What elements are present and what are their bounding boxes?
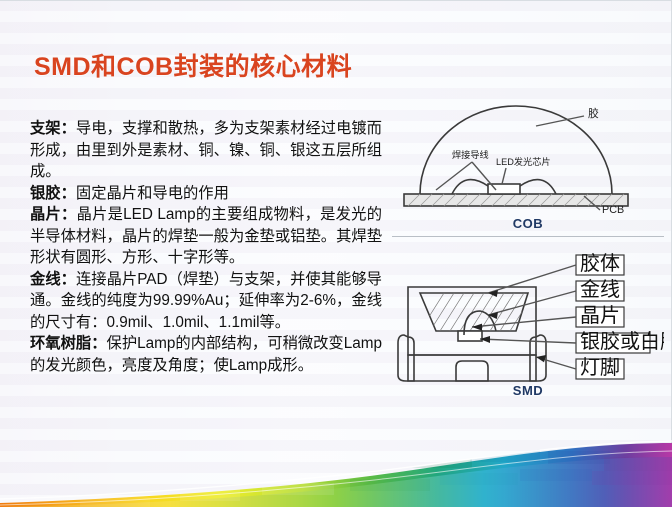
smd-label-die: 晶片 xyxy=(580,304,620,327)
paragraph-epoxy: 环氧树脂：保护Lamp的内部结构，可稍微改变Lamp的发光颜色，亮度及角度；使L… xyxy=(30,333,382,376)
smd-caption: SMD xyxy=(392,383,664,398)
cob-bond-wire-left xyxy=(452,180,488,194)
slide-canvas: SMD和COB封装的核心材料 支架：导电，支撑和散热，多为支架素材经过电镀而形成… xyxy=(0,0,672,507)
smd-label-silverglue: 银胶或白胶 xyxy=(580,330,664,353)
term-epoxy: 环氧树脂： xyxy=(30,335,107,352)
cob-diagram: 胶 焊接导线 LED发光芯片 PCB xyxy=(392,104,664,216)
cob-label-chip: LED发光芯片 xyxy=(496,156,551,167)
smd-diagram: 胶体 金线 晶片 银胶或白胶 灯脚 xyxy=(392,251,664,391)
paragraph-bracket: 支架：导电，支撑和散热，多为支架素材经过电镀而形成，由里到外是素材、铜、镍、铜、… xyxy=(30,118,382,183)
term-die: 晶片： xyxy=(30,206,77,223)
figures-divider xyxy=(392,236,664,237)
smd-package-body xyxy=(408,287,536,355)
figures-column: 胶 焊接导线 LED发光芯片 PCB COB xyxy=(392,104,664,426)
cob-leader-bondwire-b xyxy=(472,162,496,190)
smd-label-goldwire: 金线 xyxy=(580,278,620,301)
smd-lead-left xyxy=(398,335,414,381)
smd-label-encapsulant: 胶体 xyxy=(580,252,620,275)
smd-leader-lines xyxy=(472,265,576,369)
smd-figure: 胶体 金线 晶片 银胶或白胶 灯脚 xyxy=(392,251,664,398)
paragraph-die: 晶片：晶片是LED Lamp的主要组成物料，是发光的半导体材料，晶片的焊垫一般为… xyxy=(30,204,382,269)
page-title: SMD和COB封装的核心材料 xyxy=(34,47,352,83)
term-gold-wire: 金线： xyxy=(30,271,76,288)
cob-bond-wire-right xyxy=(520,180,556,194)
desc-silver-glue: 固定晶片和导电的作用 xyxy=(76,185,229,202)
rainbow-wave-decoration xyxy=(0,427,672,507)
desc-die: 晶片是LED Lamp的主要组成物料，是发光的半导体材料，晶片的焊垫一般为金垫或… xyxy=(30,206,382,266)
cob-leader-glue xyxy=(536,116,584,126)
smd-arrow-lead xyxy=(536,355,546,362)
paragraph-gold-wire: 金线：连接晶片PAD（焊垫）与支架，并使其能够导通。金线的纯度为99.99%Au… xyxy=(30,269,382,334)
cob-leader-bondwire-a xyxy=(436,162,472,190)
top-edge-line xyxy=(0,0,672,1)
body-text-block: 支架：导电，支撑和散热，多为支架素材经过电镀而形成，由里到外是素材、铜、镍、铜、… xyxy=(30,118,382,376)
cob-label-glue: 胶 xyxy=(588,106,599,120)
cob-label-pcb: PCB xyxy=(602,204,624,216)
smd-label-lead: 灯脚 xyxy=(580,356,620,379)
desc-bracket: 导电，支撑和散热，多为支架素材经过电镀而形成，由里到外是素材、铜、镍、铜、银这五… xyxy=(30,120,382,180)
cob-label-bondwire: 焊接导线 xyxy=(452,149,489,160)
cob-caption: COB xyxy=(392,216,664,231)
term-silver-glue: 银胶： xyxy=(30,185,76,202)
desc-gold-wire: 连接晶片PAD（焊垫）与支架，并使其能够导通。金线的纯度为99.99%Au；延伸… xyxy=(30,271,382,331)
smd-lower-body xyxy=(408,355,536,381)
paragraph-silver-glue: 银胶：固定晶片和导电的作用 xyxy=(30,183,382,205)
smd-die-pedestal xyxy=(458,331,482,341)
smd-label-boxes: 胶体 金线 晶片 银胶或白胶 灯脚 xyxy=(576,252,664,379)
cob-leader-chip xyxy=(502,168,506,184)
cob-figure: 胶 焊接导线 LED发光芯片 PCB COB xyxy=(392,104,664,231)
smd-bottom-notch xyxy=(456,361,488,381)
term-bracket: 支架： xyxy=(30,120,76,137)
smd-arrow-die xyxy=(472,324,482,331)
